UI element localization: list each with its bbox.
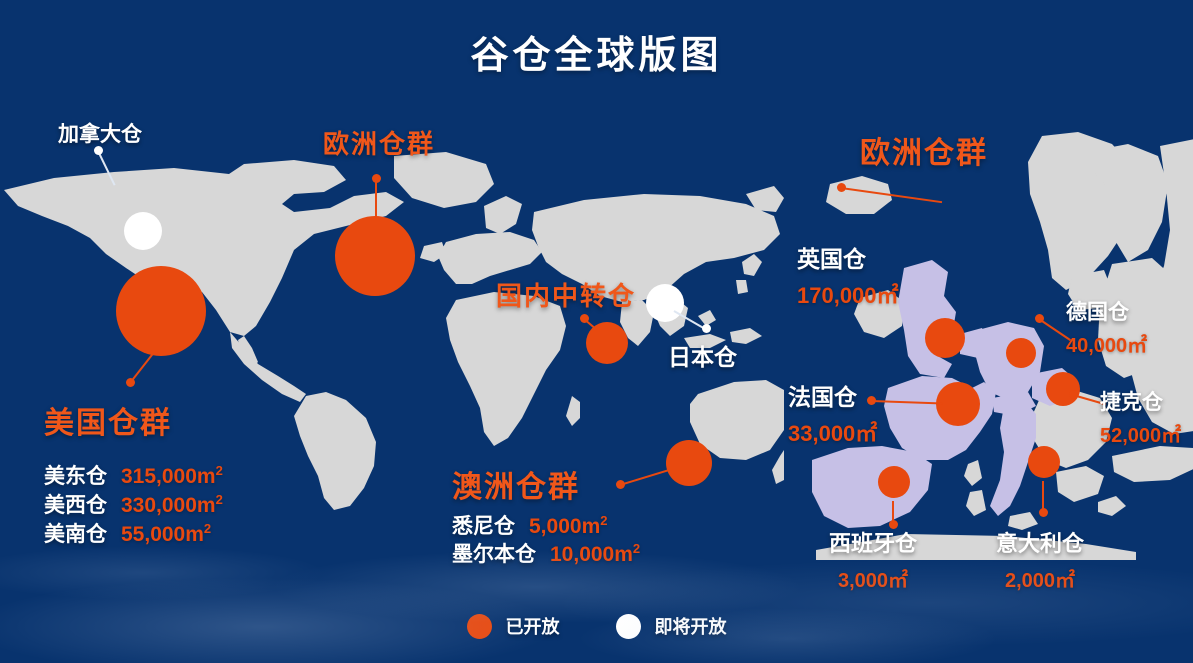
pin-china	[580, 314, 589, 323]
heading-china-transit: 国内中转仓	[496, 276, 636, 313]
marker-czech	[1046, 372, 1080, 406]
stat-row-sydney: 悉尼仓 5,000m2	[452, 510, 608, 540]
heading-europe-cluster-detail: 欧洲仓群	[860, 128, 988, 172]
stat-name: 悉尼仓	[452, 510, 515, 540]
label-uk: 英国仓 170,000㎡	[797, 240, 899, 310]
label-france-area: 33,000㎡	[788, 416, 877, 448]
stat-value: 315,000m2	[121, 463, 223, 489]
legend-soon-icon	[616, 614, 641, 639]
stat-value: 330,000m2	[121, 492, 223, 518]
heading-us-cluster: 美国仓群	[44, 398, 172, 442]
legend-open-label: 已开放	[506, 613, 560, 639]
label-japan-text: 日本仓	[668, 344, 737, 370]
pin-us	[126, 378, 135, 387]
stat-name: 美西仓	[44, 489, 107, 519]
pin-czech	[1069, 390, 1078, 399]
label-czech-area: 52,000㎡	[1100, 419, 1181, 448]
label-czech: 捷克仓 52,000㎡	[1100, 386, 1181, 448]
label-canada: 加拿大仓	[58, 118, 142, 148]
pin-italy	[1039, 508, 1048, 517]
marker-japan	[646, 284, 684, 322]
legend-soon-label: 即将开放	[655, 613, 727, 639]
marker-italy	[1028, 446, 1060, 478]
pin-uk	[837, 183, 846, 192]
legend: 已开放 即将开放	[0, 613, 1193, 639]
label-czech-name: 捷克仓	[1100, 386, 1181, 416]
legend-item-open: 已开放	[467, 613, 560, 639]
legend-item-soon: 即将开放	[616, 613, 727, 639]
marker-us-cluster	[116, 266, 206, 356]
label-germany: 德国仓 40,000㎡	[1066, 296, 1147, 358]
heading-au-cluster: 澳洲仓群	[452, 462, 580, 506]
label-spain-area: 3,000㎡	[829, 564, 917, 593]
marker-europe-cluster	[335, 216, 415, 296]
label-canada-text: 加拿大仓	[58, 123, 142, 146]
pin-germany	[1035, 314, 1044, 323]
label-france: 法国仓 33,000㎡	[788, 378, 877, 448]
label-germany-area: 40,000㎡	[1066, 329, 1147, 358]
pin-japan	[702, 324, 711, 333]
stat-value: 5,000m2	[529, 513, 608, 539]
page-title: 谷仓全球版图	[0, 24, 1193, 79]
marker-spain	[878, 466, 910, 498]
pin-australia	[616, 480, 625, 489]
marker-germany	[1006, 338, 1036, 368]
label-italy-name: 意大利仓	[996, 526, 1084, 558]
label-spain: 西班牙仓 3,000㎡	[829, 526, 917, 593]
legend-open-icon	[467, 614, 492, 639]
stat-row-us-south: 美南仓 55,000m2	[44, 518, 211, 548]
marker-uk	[925, 318, 965, 358]
label-italy-area: 2,000㎡	[996, 564, 1084, 593]
label-italy: 意大利仓 2,000㎡	[996, 526, 1084, 593]
label-spain-name: 西班牙仓	[829, 526, 917, 558]
marker-china-transit	[586, 322, 628, 364]
stat-row-us-west: 美西仓 330,000m2	[44, 489, 223, 519]
stat-value: 10,000m2	[550, 541, 640, 567]
pin-europe-world	[372, 174, 381, 183]
label-japan: 日本仓	[668, 338, 737, 372]
heading-europe-cluster-world: 欧洲仓群	[323, 124, 435, 161]
global-warehouse-map-poster: 谷仓全球版图	[0, 0, 1193, 663]
stat-row-melbourne: 墨尔本仓 10,000m2	[452, 538, 640, 568]
stat-name: 墨尔本仓	[452, 538, 536, 568]
marker-australia	[666, 440, 712, 486]
label-uk-area: 170,000㎡	[797, 278, 899, 310]
label-france-name: 法国仓	[788, 378, 877, 412]
label-uk-name: 英国仓	[797, 240, 899, 274]
stat-name: 美东仓	[44, 460, 107, 490]
stat-name: 美南仓	[44, 518, 107, 548]
stat-row-us-east: 美东仓 315,000m2	[44, 460, 223, 490]
stat-value: 55,000m2	[121, 521, 211, 547]
label-germany-name: 德国仓	[1066, 296, 1147, 326]
marker-canada	[124, 212, 162, 250]
